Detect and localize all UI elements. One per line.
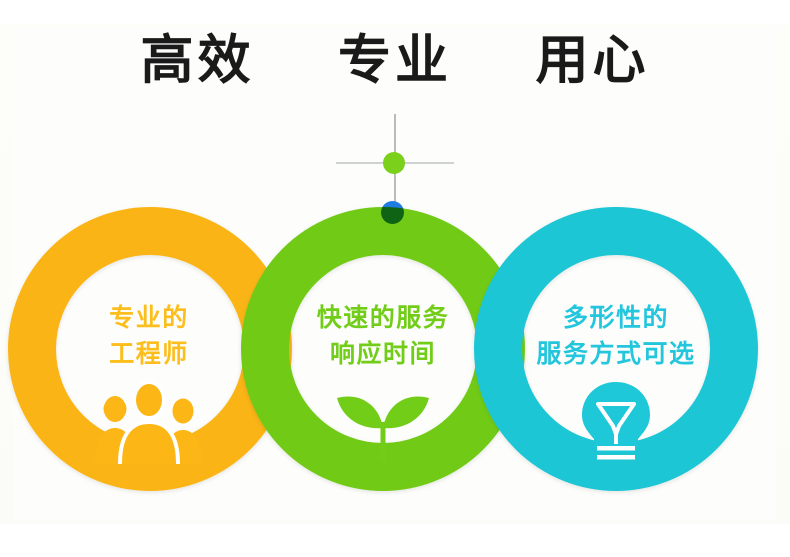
venn-rings-graphic (0, 0, 790, 557)
ring-circle-2 (265, 231, 501, 467)
ring-circle-3 (498, 231, 734, 467)
infographic-canvas: 高效 专业 用心 专业的 工程师 (0, 0, 790, 557)
ring-circle-1 (32, 231, 268, 467)
